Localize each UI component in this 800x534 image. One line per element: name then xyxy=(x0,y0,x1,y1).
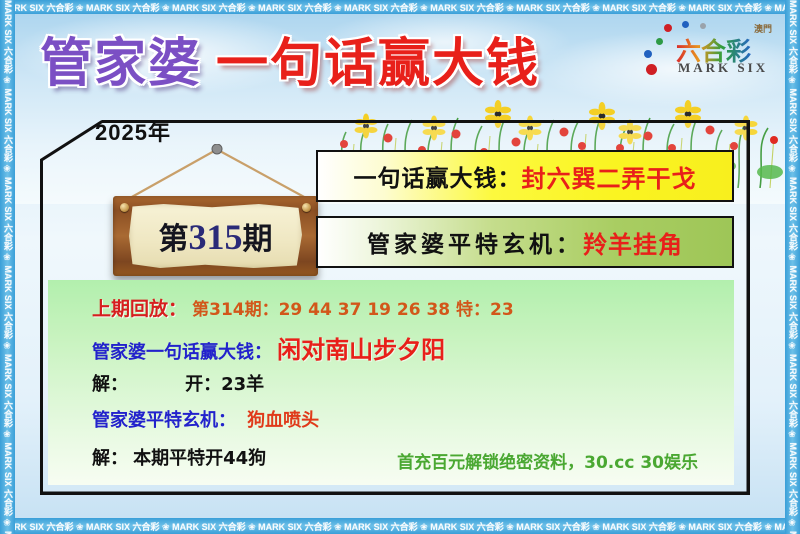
answer2-label: 解： xyxy=(92,448,128,469)
logo-dot-blue-1 xyxy=(682,21,689,28)
highlight-row-phrase-label: 一句话赢大钱： xyxy=(354,159,522,193)
answer1-label: 解： xyxy=(92,374,128,395)
replay-label: 上期回放： xyxy=(92,298,187,320)
border-left: MARK SIX 六合彩 ❀ MARK SIX 六合彩 ❀ MARK SIX 六… xyxy=(0,0,15,534)
phrase-value: 闲对南山步夕阳 xyxy=(277,336,445,364)
highlight-row-riddle-value: 羚羊挂角 xyxy=(583,225,683,260)
title-slogan: 一句话赢大钱 xyxy=(216,21,540,96)
title-brand: 管家婆 xyxy=(40,21,202,96)
logo-dot-blue-2 xyxy=(644,50,652,58)
border-right: MARK SIX 六合彩 ❀ MARK SIX 六合彩 ❀ MARK SIX 六… xyxy=(785,0,800,534)
border-right-text: MARK SIX 六合彩 ❀ MARK SIX 六合彩 ❀ MARK SIX 六… xyxy=(787,0,800,534)
highlight-row-riddle: 管家婆平特玄机： 羚羊挂角 xyxy=(316,216,734,268)
riddle-line: 管家婆平特玄机： 狗血喷头 xyxy=(92,406,319,432)
highlight-row-phrase: 一句话赢大钱： 封六巽二弄干戈 xyxy=(316,150,734,202)
logo-dot-red-1 xyxy=(664,24,672,32)
logo-english-name: MARK SIX xyxy=(678,60,768,76)
sign-paper: 第315期 xyxy=(129,204,302,268)
year-label: 2025年 xyxy=(95,115,171,147)
sign-screw-left xyxy=(120,203,129,212)
issue-prefix: 第 xyxy=(159,223,189,256)
logo-macau-label: 澳門 xyxy=(754,22,772,35)
phrase-label: 管家婆一句话赢大钱： xyxy=(92,342,272,363)
mark-six-logo: 澳門 六合彩 MARK SIX xyxy=(642,18,774,80)
border-bottom: MARK SIX 六合彩 ❀ MARK SIX 六合彩 ❀ MARK SIX 六… xyxy=(0,518,800,534)
border-left-text: MARK SIX 六合彩 ❀ MARK SIX 六合彩 ❀ MARK SIX 六… xyxy=(2,0,15,534)
issue-number: 315 xyxy=(189,217,243,257)
answer2-value: 本期平特开44狗 xyxy=(133,448,266,469)
poster-title: 管家婆 一句话赢大钱 xyxy=(40,22,660,94)
replay-line: 上期回放： 第314期：29 44 37 19 26 38 特：23 xyxy=(92,294,514,321)
issue-number-text: 第315期 xyxy=(159,214,273,258)
border-bottom-text: MARK SIX 六合彩 ❀ MARK SIX 六合彩 ❀ MARK SIX 六… xyxy=(0,520,800,533)
sign-screw-right xyxy=(302,203,311,212)
highlight-row-phrase-value: 封六巽二弄干戈 xyxy=(522,159,697,194)
answer1-value: 开：23羊 xyxy=(185,374,264,395)
promo-text: 首充百元解锁绝密资料，30.cc 30娱乐 xyxy=(397,448,698,473)
highlight-row-riddle-label: 管家婆平特玄机： xyxy=(367,225,583,259)
riddle-value: 狗血喷头 xyxy=(247,410,319,431)
phrase-line: 管家婆一句话赢大钱： 闲对南山步夕阳 xyxy=(92,330,445,365)
content-panel: 上期回放： 第314期：29 44 37 19 26 38 特：23 管家婆一句… xyxy=(48,280,734,485)
logo-dot-gray-1 xyxy=(700,23,706,29)
logo-dot-red-2 xyxy=(646,64,657,75)
poster-canvas: 管家婆 一句话赢大钱 澳門 六合彩 MARK SIX 2025年 xyxy=(0,0,800,534)
main-panel: 2025年 第315期 一句话赢大钱： 封六巽二弄干戈 xyxy=(40,120,750,495)
issue-suffix: 期 xyxy=(243,223,273,256)
border-top-text: MARK SIX 六合彩 ❀ MARK SIX 六合彩 ❀ MARK SIX 六… xyxy=(0,1,800,14)
sign-board: 第315期 xyxy=(113,196,318,276)
answer2-line: 解： 本期平特开44狗 xyxy=(92,444,266,470)
replay-value: 第314期：29 44 37 19 26 38 特：23 xyxy=(192,300,514,320)
logo-dot-green-1 xyxy=(656,38,663,45)
hanging-wooden-sign: 第315期 xyxy=(100,144,340,289)
riddle-label: 管家婆平特玄机： xyxy=(92,410,236,431)
border-top: MARK SIX 六合彩 ❀ MARK SIX 六合彩 ❀ MARK SIX 六… xyxy=(0,0,800,14)
answer1-line: 解： 开：23羊 xyxy=(92,370,264,396)
